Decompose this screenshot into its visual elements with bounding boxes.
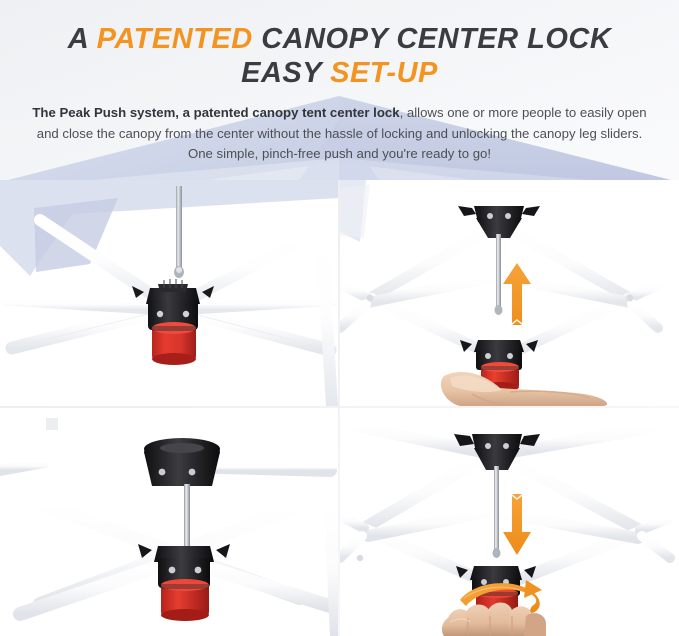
panel-seam-vertical [338, 180, 340, 636]
panel-seam-horizontal [0, 406, 679, 408]
headline-segment-2: CANOPY CENTER LOCK [253, 23, 612, 55]
panel-top-left-illustration [0, 180, 338, 406]
page-title: A PATENTED CANOPY CENTER LOCK EASY SET-U… [14, 22, 665, 90]
description-bold-lead: The Peak Push system, a patented canopy … [32, 105, 399, 120]
header-block: A PATENTED CANOPY CENTER LOCK EASY SET-U… [0, 0, 679, 164]
panel-bottom-right [340, 408, 679, 636]
headline-highlight-setup: SET-UP [330, 57, 438, 89]
headline-line-2: EASY SET-UP [14, 56, 665, 90]
panel-bottom-right-illustration [340, 408, 679, 636]
black-top-cap [144, 438, 220, 486]
description-final-line: One simple, pinch-free push and you're r… [188, 146, 491, 161]
headline-segment-3: EASY [241, 57, 330, 89]
panel-bottom-left-illustration [0, 408, 338, 636]
panel-bottom-left [0, 408, 338, 636]
headline-segment-1: A [68, 23, 97, 55]
red-lock-base [161, 579, 209, 621]
panel-top-left [0, 180, 338, 406]
headline-highlight-patented: PATENTED [97, 23, 253, 55]
panel-top-right [340, 180, 679, 406]
panel-top-right-illustration [340, 180, 679, 406]
description-paragraph: The Peak Push system, a patented canopy … [28, 103, 651, 163]
photo-panel-grid [0, 180, 679, 636]
red-lock-base [152, 322, 196, 365]
infographic-canvas: A PATENTED CANOPY CENTER LOCK EASY SET-U… [0, 0, 679, 636]
